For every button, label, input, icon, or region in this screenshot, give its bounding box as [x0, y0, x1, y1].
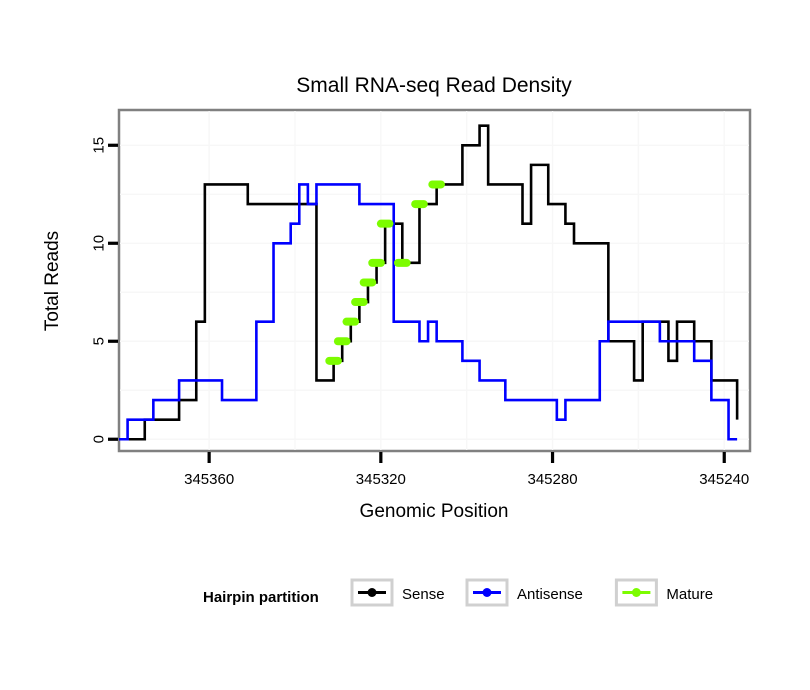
- plot-panel-frame: [119, 110, 750, 451]
- x-tick-label: 345360: [184, 471, 234, 488]
- legend-key-point: [368, 588, 377, 597]
- x-tick-label: 345280: [528, 471, 578, 488]
- chart-container: Small RNA-seq Read Density 051015 345360…: [0, 0, 810, 690]
- rna-seq-read-density-plot: Small RNA-seq Read Density 051015 345360…: [0, 0, 810, 690]
- legend-label: Sense: [402, 586, 445, 603]
- x-tick-label: 345320: [356, 471, 406, 488]
- legend-title: Hairpin partition: [203, 589, 319, 606]
- y-tick-label: 10: [91, 235, 108, 252]
- legend-key-point: [483, 588, 492, 597]
- legend-key-point: [632, 588, 641, 597]
- y-axis-title: Total Reads: [42, 231, 63, 331]
- legend-label: Mature: [666, 586, 713, 603]
- y-tick-label: 5: [91, 337, 108, 345]
- x-tick-label: 345240: [699, 471, 749, 488]
- x-axis-title: Genomic Position: [360, 501, 509, 522]
- y-tick-label: 0: [91, 435, 108, 443]
- chart-title: Small RNA-seq Read Density: [296, 74, 572, 97]
- legend-label: Antisense: [517, 586, 583, 603]
- y-tick-label: 15: [91, 137, 108, 154]
